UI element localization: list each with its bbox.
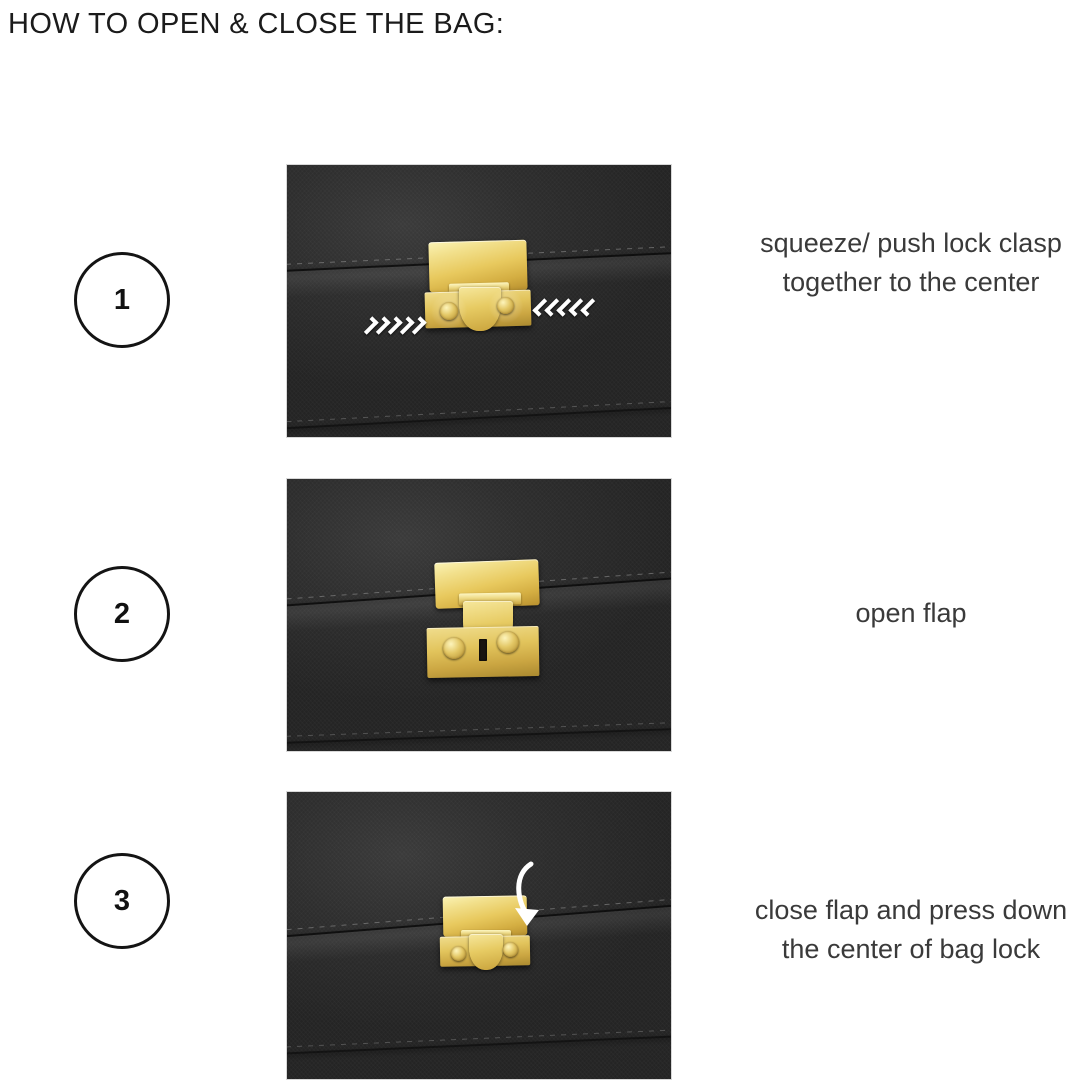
gold-lock-open (427, 561, 547, 679)
step-caption-1: squeeze/ push lock clasp together to the… (746, 224, 1076, 302)
step-row: 1 (0, 164, 1080, 438)
lock-screw-left (451, 946, 466, 961)
step-caption-3: close flap and press down the center of … (746, 891, 1076, 969)
lock-screw-left (440, 302, 458, 320)
step-row: 2 open flap (0, 478, 1080, 752)
step-photo-1 (286, 164, 672, 438)
step-number-badge-2: 2 (74, 566, 170, 662)
step-number-badge-3: 3 (74, 853, 170, 949)
step-photo-3 (286, 791, 672, 1080)
lock-keyhole (479, 639, 487, 661)
step-number-label: 3 (114, 887, 130, 916)
page-title: HOW TO OPEN & CLOSE THE BAG: (8, 8, 504, 41)
step-caption-2: open flap (746, 594, 1076, 633)
step-photo-2 (286, 478, 672, 752)
lock-screw-left (443, 637, 465, 659)
step-number-label: 1 (114, 286, 130, 315)
lock-screw-right (497, 297, 514, 314)
lock-screw-right (497, 631, 519, 653)
press-down-arrow-icon (465, 860, 575, 966)
gold-lock-closed (423, 241, 533, 333)
step-number-label: 2 (114, 600, 130, 629)
step-number-badge-1: 1 (74, 252, 170, 348)
arrow-group-left-inward (365, 317, 422, 334)
arrow-group-right-inward (537, 299, 594, 316)
step-row: 3 close flap and press down the center o… (0, 791, 1080, 1080)
